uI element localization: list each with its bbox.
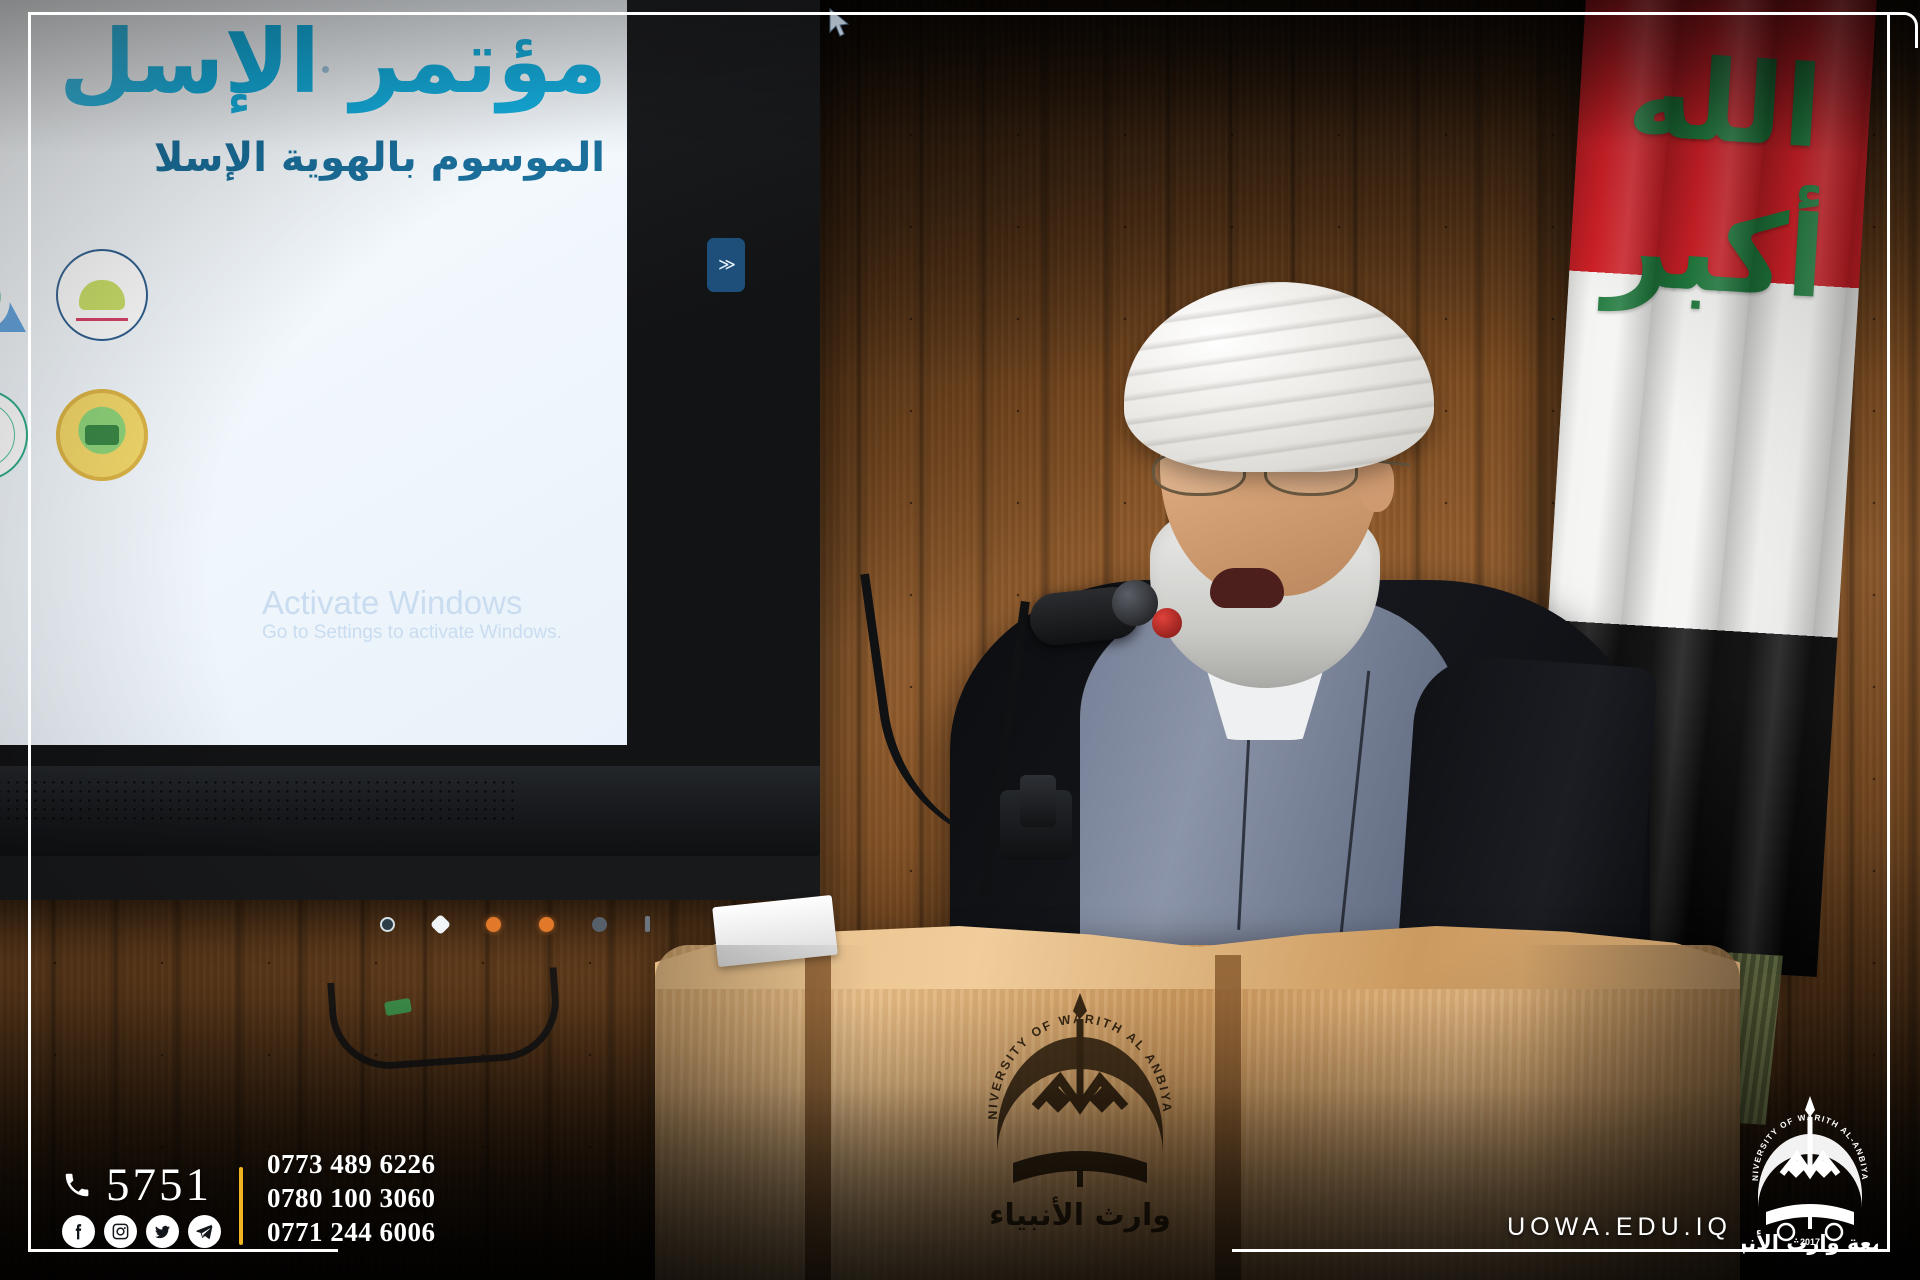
- slide-bullet-dot: [322, 66, 329, 73]
- phone-number-1: 0773 489 6226: [267, 1148, 436, 1180]
- facebook-icon[interactable]: [62, 1215, 95, 1248]
- windows-activation-watermark: Activate Windows Go to Settings to activ…: [262, 585, 562, 645]
- power-button-icon[interactable]: [380, 917, 395, 932]
- uowa-seal-logo[interactable]: UNIVERSITY OF WARITH AL-ANBIYAA جامعة وا…: [1742, 1092, 1878, 1262]
- brand-logo-year: 2017: [1800, 1237, 1820, 1247]
- phone-numbers-list: 0773 489 6226 0780 100 3060 0771 244 600…: [267, 1148, 436, 1248]
- logo-gold-green-wreath: [56, 389, 148, 481]
- instagram-icon[interactable]: [104, 1215, 137, 1248]
- logo-al-ataba-al-husayniyya-seal: [56, 249, 148, 341]
- mouse-cursor-icon: [828, 8, 850, 38]
- slide-title: مؤتمر الإسل: [59, 18, 607, 106]
- microphone-windscreen: [1112, 580, 1158, 626]
- presentation-screen[interactable]: جامعة جاكرتا/اندنوسيا - جامعة المن جامعة…: [0, 0, 627, 745]
- indicator-amber-1-icon: [486, 917, 501, 932]
- watermark-subtitle: Go to Settings to activate Windows.: [262, 621, 562, 645]
- flag-inscription: الله أكبر: [1566, 19, 1874, 336]
- twitter-icon[interactable]: [146, 1215, 179, 1248]
- hotline-number: 5751: [106, 1164, 212, 1206]
- indicator-bar-icon: [645, 916, 650, 932]
- contact-block: 5751 0773 489 6226 0780 100 3060: [62, 1148, 436, 1248]
- indicator-white-icon: [430, 913, 451, 934]
- indicator-dim-icon: [592, 917, 607, 932]
- indicator-amber-2-icon: [539, 917, 554, 932]
- watermark-title: Activate Windows: [262, 585, 562, 621]
- speaker-mouth: [1210, 568, 1284, 608]
- panel-bottom-chin: [0, 766, 820, 856]
- social-icons-row[interactable]: [62, 1215, 221, 1248]
- phone-icon: [62, 1170, 92, 1200]
- phone-number-2: 0780 100 3060: [267, 1182, 436, 1214]
- website-url[interactable]: UOWA.EDU.IQ: [1507, 1213, 1732, 1242]
- microphone-clamp: [1020, 775, 1056, 827]
- logo-university-of-kufa: [0, 389, 28, 481]
- slide-logo-grid: [0, 225, 282, 505]
- hotline-row[interactable]: 5751: [62, 1164, 221, 1206]
- panel-control-strip[interactable]: [380, 916, 650, 932]
- panel-speaker-grille: [0, 780, 520, 824]
- interactive-flat-panel[interactable]: جامعة جاكرتا/اندنوسيا - جامعة المن جامعة…: [0, 0, 820, 900]
- slide-subtitle: الموسوم بالهوية الإسلا: [154, 138, 605, 178]
- screen-floating-toolbar[interactable]: ≫: [707, 238, 745, 292]
- phone-number-3: 0771 244 6006: [267, 1216, 436, 1248]
- microphone-red-capsule: [1152, 608, 1182, 638]
- logo-blue-triangle-swirl: [0, 249, 28, 341]
- contact-divider: [239, 1167, 243, 1245]
- telegram-icon[interactable]: [188, 1215, 221, 1248]
- contact-hotline-group: 5751: [62, 1164, 221, 1248]
- screenshot-root: الله أكبر جامعة جاكرتا/اندنوسيا - جامعة …: [0, 0, 1920, 1280]
- collapse-toolbar-icon[interactable]: ≫: [718, 255, 734, 275]
